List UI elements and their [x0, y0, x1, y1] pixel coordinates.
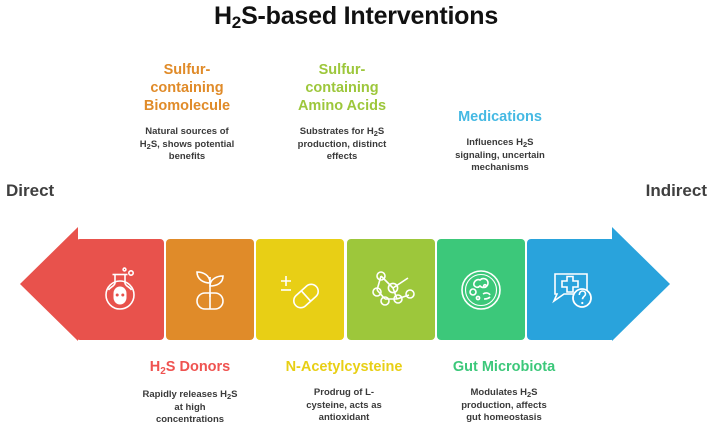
label-block-sulfur-amino-acids: Sulfur- containing Amino Acids Substrate…: [262, 61, 422, 164]
segment-n-acetylcysteine[interactable]: [256, 239, 344, 340]
title-text-after: S-based Interventions: [241, 2, 498, 30]
segment-sulfur-amino-acids[interactable]: [347, 239, 435, 340]
segment-sulfur-biomolecule[interactable]: [166, 239, 254, 340]
speech-bubble-medical-icon: [544, 263, 598, 317]
label-block-sulfur-biomolecule: Sulfur- containing Biomolecule Natural s…: [107, 61, 267, 164]
label-description: Natural sources ofH2S, shows potentialbe…: [107, 126, 267, 164]
label-heading: Gut Microbiota: [424, 358, 584, 376]
heading-line-3: Amino Acids: [298, 98, 386, 114]
heading-line-2: containing: [150, 80, 223, 96]
label-heading: Sulfur- containing Amino Acids: [262, 61, 422, 115]
label-block-h2s-donors: H2S Donors Rapidly releases H2Sat highco…: [110, 358, 270, 427]
axis-label-direct: Direct: [6, 181, 54, 201]
label-block-gut-microbiota: Gut Microbiota Modulates H2Sproduction, …: [424, 358, 584, 425]
label-description: Rapidly releases H2Sat highconcentration…: [110, 389, 270, 427]
segment-gut-microbiota[interactable]: [437, 239, 525, 340]
segment-h2s-donors[interactable]: [76, 239, 164, 340]
segment-medications[interactable]: [527, 239, 615, 340]
title-subscript: 2: [232, 13, 241, 32]
pill-plus-minus-icon: [273, 263, 327, 317]
molecule-network-icon: [364, 263, 418, 317]
label-heading: Sulfur- containing Biomolecule: [107, 61, 267, 115]
arrow-right-head-icon: [612, 227, 670, 341]
heading-line-1: Sulfur-: [319, 62, 366, 78]
axis-label-indirect: Indirect: [646, 181, 707, 201]
heading-line-1: Sulfur-: [164, 62, 211, 78]
label-description: Substrates for H2Sproduction, distinctef…: [262, 126, 422, 164]
heading-line-3: Biomolecule: [144, 98, 230, 114]
infographic-canvas: H2S-based Interventions Direct Indirect: [0, 0, 712, 445]
title-text-before: H: [214, 2, 232, 30]
heading-line-2: containing: [305, 80, 378, 96]
petri-dish-icon: [454, 263, 508, 317]
flask-icon: [93, 263, 147, 317]
page-title: H2S-based Interventions: [0, 2, 712, 31]
plant-sprout-icon: [183, 263, 237, 317]
label-block-n-acetylcysteine: N-Acetylcysteine Prodrug of L-cysteine, …: [264, 358, 424, 425]
heading-line-1: Medications: [458, 109, 542, 125]
label-heading: H2S Donors: [110, 358, 270, 378]
label-heading: Medications: [420, 108, 580, 126]
label-description: Modulates H2Sproduction, affectsgut home…: [424, 387, 584, 425]
label-heading: N-Acetylcysteine: [264, 358, 424, 376]
label-block-medications: Medications Influences H2Ssignaling, unc…: [420, 108, 580, 175]
label-description: Prodrug of L-cysteine, acts asantioxidan…: [264, 387, 424, 425]
label-description: Influences H2Ssignaling, uncertainmechan…: [420, 137, 580, 175]
arrow-left-head-icon: [20, 227, 78, 341]
